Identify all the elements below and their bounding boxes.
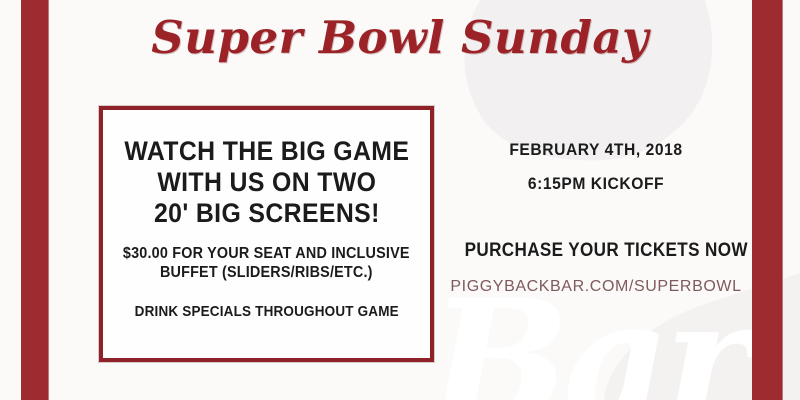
ticket-url-link[interactable]: PIGGYBACKBAR.COM/SUPERBOWL bbox=[450, 278, 742, 296]
event-time: 6:15PM KICKOFF bbox=[462, 174, 731, 194]
offer-price-line-2: BUFFET (SLIDERS/RIBS/ETC.) bbox=[123, 263, 410, 282]
offer-headline-line-2: WITH US ON TWO bbox=[124, 167, 409, 198]
page-title: Super Bowl Sunday bbox=[60, 14, 740, 61]
watermark-script-text: Bar bbox=[430, 278, 745, 400]
right-accent-stripe bbox=[752, 0, 783, 400]
left-accent-stripe bbox=[21, 0, 49, 400]
event-date: FEBRUARY 4TH, 2018 bbox=[462, 140, 731, 160]
offer-headline-line-3: 20' BIG SCREENS! bbox=[124, 198, 409, 229]
poster-canvas: Bar Super Bowl Sunday WATCH THE BIG GAME… bbox=[0, 0, 800, 400]
offer-headline: WATCH THE BIG GAME WITH US ON TWO 20' BI… bbox=[124, 136, 409, 228]
offer-drink-specials: DRINK SPECIALS THROUGHOUT GAME bbox=[134, 303, 398, 320]
offer-price-text: $30.00 FOR YOUR SEAT AND INCLUSIVE BUFFE… bbox=[123, 244, 410, 282]
offer-headline-line-1: WATCH THE BIG GAME bbox=[124, 136, 409, 167]
purchase-tickets-cta[interactable]: PURCHASE YOUR TICKETS NOW bbox=[465, 240, 728, 262]
event-details: FEBRUARY 4TH, 2018 6:15PM KICKOFF PURCHA… bbox=[450, 140, 742, 296]
offer-box: WATCH THE BIG GAME WITH US ON TWO 20' BI… bbox=[99, 106, 434, 362]
offer-price-line-1: $30.00 FOR YOUR SEAT AND INCLUSIVE bbox=[123, 244, 410, 263]
